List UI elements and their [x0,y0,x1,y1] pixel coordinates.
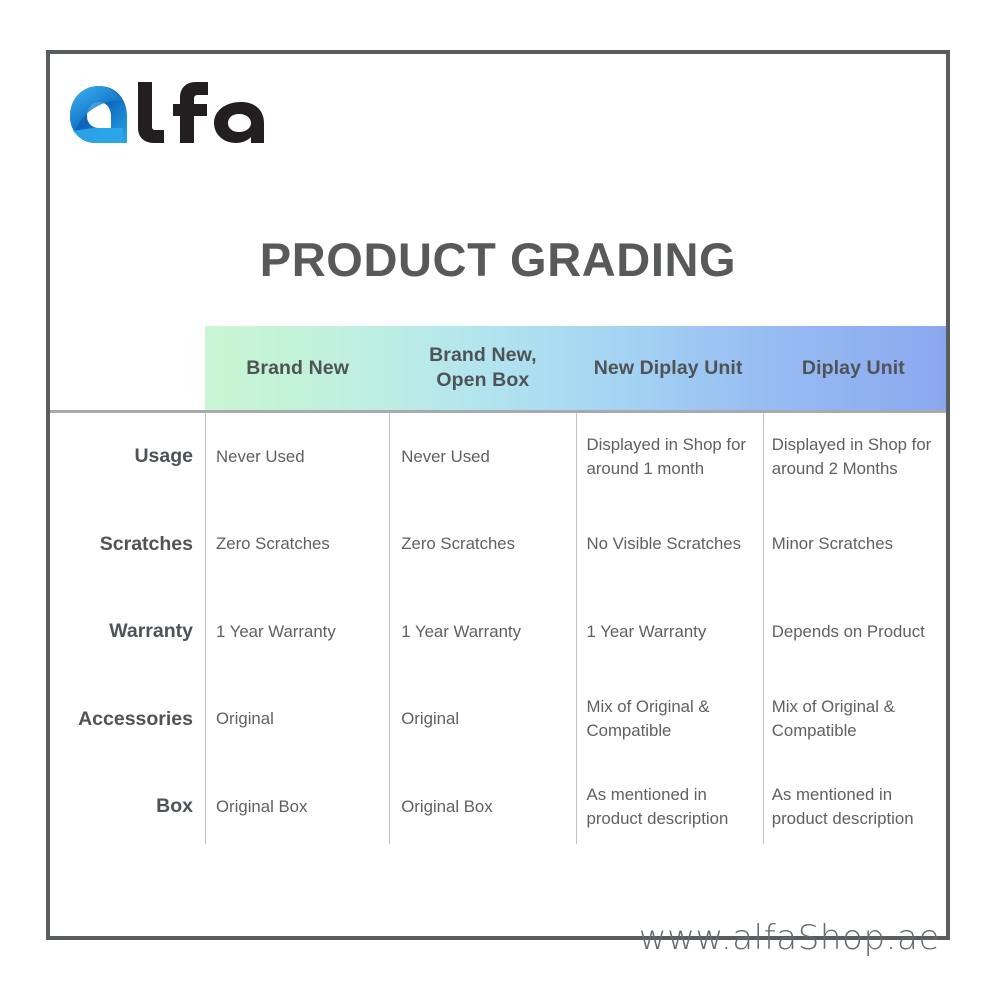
cell-warranty-brand-new-open-box: 1 Year Warranty [390,588,575,676]
row-label-box: Box [50,763,205,851]
column-header-brand-new-open-box: Brand New, Open Box [390,326,575,410]
cell-warranty-new-diplay-unit: 1 Year Warranty [576,588,761,676]
column-header-label: New Diplay Unit [594,356,743,381]
cell-usage-brand-new-open-box: Never Used [390,413,575,501]
cell-warranty-diplay-unit: Depends on Product [761,588,946,676]
cell-accessories-brand-new: Original [205,676,390,764]
alfa-logo-svg [68,82,268,152]
row-label-scratches: Scratches [50,501,205,589]
cell-box-diplay-unit: As mentioned in product description [761,763,946,851]
row-label-warranty: Warranty [50,588,205,676]
column-header-brand-new: Brand New [205,326,390,410]
website-url[interactable]: www.alfaShop.ae [560,918,940,958]
table-row: Warranty 1 Year Warranty 1 Year Warranty… [50,588,946,676]
column-header-diplay-unit: Diplay Unit [761,326,946,410]
column-header-label: Brand New, Open Box [429,343,537,393]
cell-scratches-brand-new-open-box: Zero Scratches [390,501,575,589]
page-title: PRODUCT GRADING [46,232,950,287]
column-header-new-diplay-unit: New Diplay Unit [576,326,761,410]
logo-letter-a2 [214,102,264,143]
cell-accessories-brand-new-open-box: Original [390,676,575,764]
logo-letter-l [138,82,164,143]
cell-accessories-new-diplay-unit: Mix of Original & Compatible [576,676,761,764]
column-header-label: Diplay Unit [802,356,905,381]
cell-usage-new-diplay-unit: Displayed in Shop for around 1 month [576,413,761,501]
table-body: Usage Never Used Never Used Displayed in… [50,413,946,846]
cell-warranty-brand-new: 1 Year Warranty [205,588,390,676]
table-row: Accessories Original Original Mix of Ori… [50,676,946,764]
row-label-usage: Usage [50,413,205,501]
cell-box-brand-new-open-box: Original Box [390,763,575,851]
cell-usage-diplay-unit: Displayed in Shop for around 2 Months [761,413,946,501]
table-row: Box Original Box Original Box As mention… [50,763,946,851]
cell-accessories-diplay-unit: Mix of Original & Compatible [761,676,946,764]
table-row: Scratches Zero Scratches Zero Scratches … [50,501,946,589]
alfa-logo[interactable] [68,82,268,152]
table-header-row: Brand New Brand New, Open Box New Diplay… [205,326,946,410]
table-row: Usage Never Used Never Used Displayed in… [50,413,946,501]
cell-usage-brand-new: Never Used [205,413,390,501]
column-header-label: Brand New [246,356,349,381]
cell-scratches-brand-new: Zero Scratches [205,501,390,589]
logo-a-mark [70,86,127,143]
product-grading-table: Brand New Brand New, Open Box New Diplay… [50,326,946,846]
cell-box-new-diplay-unit: As mentioned in product description [576,763,761,851]
row-label-accessories: Accessories [50,676,205,764]
poster-canvas: PRODUCT GRADING Brand New Brand New, Ope… [0,0,1000,1000]
cell-scratches-new-diplay-unit: No Visible Scratches [576,501,761,589]
cell-scratches-diplay-unit: Minor Scratches [761,501,946,589]
cell-box-brand-new: Original Box [205,763,390,851]
logo-letter-f [173,82,208,143]
